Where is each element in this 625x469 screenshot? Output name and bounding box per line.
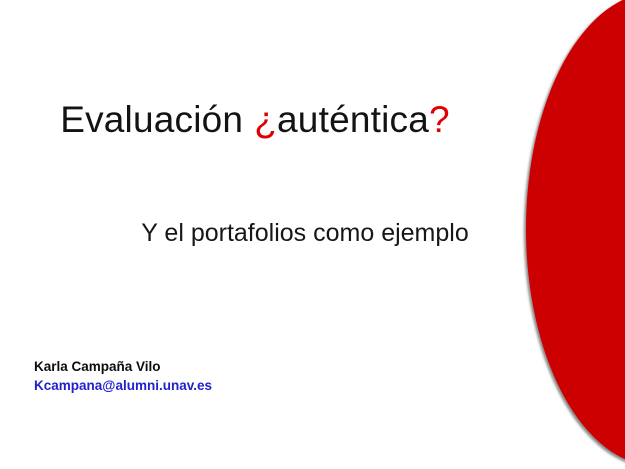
slide-title: Evaluación¿auténtica?: [0, 98, 510, 142]
title-question-mark: ?: [429, 99, 450, 140]
title-word-autentica: auténtica: [277, 99, 429, 140]
title-word-evaluacion: Evaluación: [60, 99, 243, 140]
author-block: Karla Campaña Vilo Kcampana@alumni.unav.…: [34, 357, 212, 395]
title-inverted-question-mark: ¿: [254, 99, 277, 140]
author-email[interactable]: Kcampana@alumni.unav.es: [34, 376, 212, 395]
author-name: Karla Campaña Vilo: [34, 357, 212, 376]
slide-subtitle: Y el portafolios como ejemplo: [0, 218, 610, 248]
presentation-title-slide: Evaluación¿auténtica? Y el portafolios c…: [0, 0, 625, 469]
